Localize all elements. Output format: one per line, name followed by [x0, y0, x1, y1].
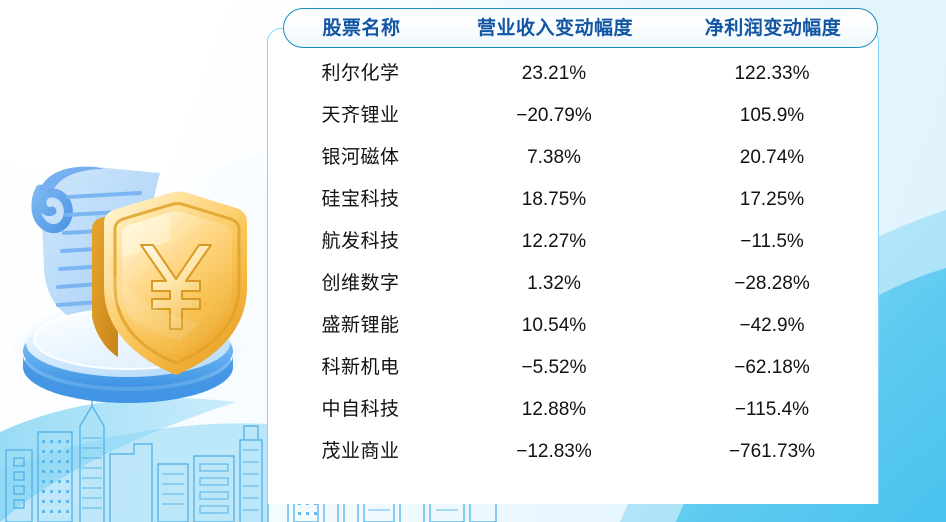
cell-name: 中自科技: [283, 400, 438, 419]
cell-revenue: −20.79%: [438, 106, 670, 125]
cell-name: 航发科技: [283, 232, 438, 251]
table-row: 科新机电 −5.52% −62.18%: [283, 346, 878, 388]
cell-profit: −761.73%: [670, 442, 874, 461]
cell-name: 硅宝科技: [283, 190, 438, 209]
cell-revenue: 23.21%: [438, 64, 670, 83]
cell-profit: −115.4%: [670, 400, 874, 419]
cell-name: 利尔化学: [283, 64, 438, 83]
cell-name: 盛新锂能: [283, 316, 438, 335]
cell-name: 茂业商业: [283, 442, 438, 461]
table-header-pill: 股票名称 营业收入变动幅度 净利润变动幅度: [283, 8, 878, 48]
cell-revenue: 1.32%: [438, 274, 670, 293]
cell-revenue: −12.83%: [438, 442, 670, 461]
cell-revenue: 10.54%: [438, 316, 670, 335]
column-header-name: 股票名称: [284, 19, 439, 38]
table-row: 利尔化学 23.21% 122.33%: [283, 52, 878, 94]
cell-profit: −62.18%: [670, 358, 874, 377]
cell-revenue: 12.27%: [438, 232, 670, 251]
stock-table-body: 利尔化学 23.21% 122.33% 天齐锂业 −20.79% 105.9% …: [283, 52, 878, 472]
cell-revenue: −5.52%: [438, 358, 670, 377]
cell-name: 银河磁体: [283, 148, 438, 167]
cell-profit: 20.74%: [670, 148, 874, 167]
table-row: 盛新锂能 10.54% −42.9%: [283, 304, 878, 346]
cell-name: 科新机电: [283, 358, 438, 377]
infographic-stage: 股票名称 营业收入变动幅度 净利润变动幅度 利尔化学 23.21% 122.33…: [0, 0, 946, 522]
table-row: 茂业商业 −12.83% −761.73%: [283, 430, 878, 472]
table-row: 创维数字 1.32% −28.28%: [283, 262, 878, 304]
table-row: 航发科技 12.27% −11.5%: [283, 220, 878, 262]
table-row: 银河磁体 7.38% 20.74%: [283, 136, 878, 178]
cell-profit: −28.28%: [670, 274, 874, 293]
cell-name: 创维数字: [283, 274, 438, 293]
cell-profit: −11.5%: [670, 232, 874, 251]
column-header-revenue: 营业收入变动幅度: [439, 19, 671, 38]
table-row: 天齐锂业 −20.79% 105.9%: [283, 94, 878, 136]
cell-name: 天齐锂业: [283, 106, 438, 125]
cell-profit: −42.9%: [670, 316, 874, 335]
column-header-profit: 净利润变动幅度: [671, 19, 875, 38]
table-row: 中自科技 12.88% −115.4%: [283, 388, 878, 430]
finance-shield-illustration: [0, 145, 270, 405]
cell-profit: 17.25%: [670, 190, 874, 209]
cell-revenue: 18.75%: [438, 190, 670, 209]
cell-profit: 105.9%: [670, 106, 874, 125]
cell-revenue: 12.88%: [438, 400, 670, 419]
table-row: 硅宝科技 18.75% 17.25%: [283, 178, 878, 220]
cell-profit: 122.33%: [670, 64, 874, 83]
cell-revenue: 7.38%: [438, 148, 670, 167]
